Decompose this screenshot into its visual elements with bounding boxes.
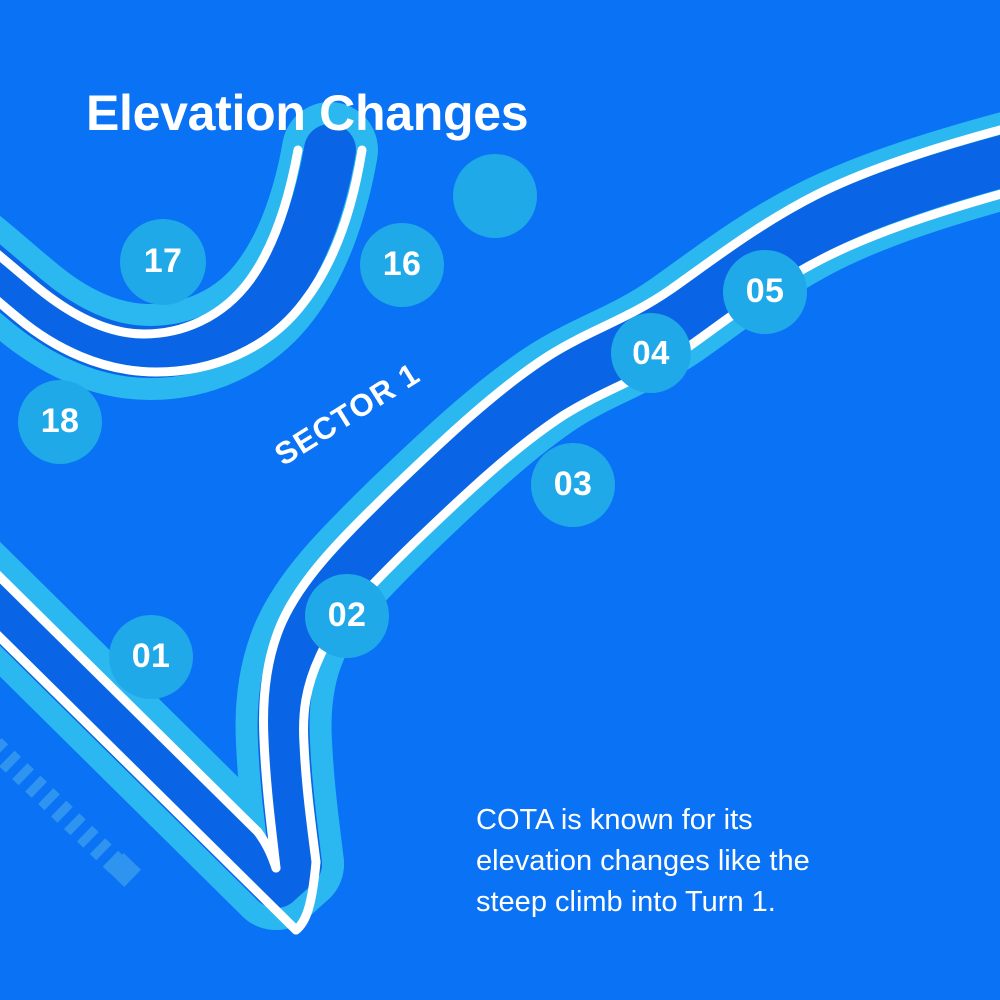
turn-marker-05[interactable]: 05 bbox=[723, 250, 807, 334]
turn-marker-label: 05 bbox=[746, 274, 785, 308]
turn-marker-02[interactable]: 02 bbox=[305, 574, 389, 658]
turn-marker-label: 17 bbox=[144, 244, 183, 278]
turn-marker-label: 03 bbox=[554, 467, 593, 501]
turn-marker-label: 02 bbox=[328, 598, 367, 632]
turn-marker-partial-top bbox=[453, 154, 537, 238]
turn-marker-04[interactable]: 04 bbox=[611, 313, 691, 393]
page-title: Elevation Changes bbox=[86, 86, 528, 141]
turn-marker-18[interactable]: 18 bbox=[18, 380, 102, 464]
turn-marker-label: 18 bbox=[41, 404, 80, 438]
turn-marker-03[interactable]: 03 bbox=[531, 443, 615, 527]
turn-marker-16[interactable]: 16 bbox=[360, 223, 444, 307]
turn-marker-01[interactable]: 01 bbox=[109, 615, 193, 699]
caption-block: COTA is known for its elevation changes … bbox=[476, 800, 896, 924]
turn-marker-label: 01 bbox=[132, 639, 171, 673]
turn-marker-17[interactable]: 17 bbox=[120, 219, 206, 305]
turn-marker-label: 04 bbox=[632, 336, 670, 369]
caption-line-2: elevation changes like the bbox=[476, 841, 896, 882]
turn-marker-label: 16 bbox=[383, 247, 422, 281]
elevation-changes-track-map: 1716050418030201 SECTOR 1 Elevation Chan… bbox=[0, 0, 1000, 1000]
caption-line-3: steep climb into Turn 1. bbox=[476, 882, 896, 923]
caption-line-1: COTA is known for its bbox=[476, 800, 896, 841]
